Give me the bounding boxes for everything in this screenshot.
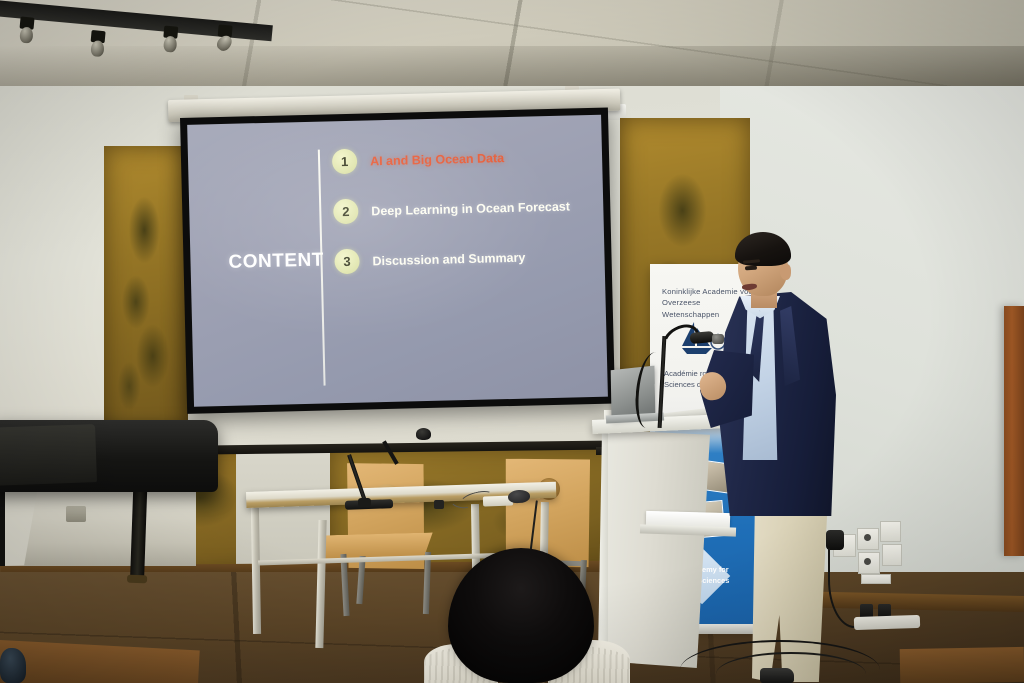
piano-pedal (66, 506, 86, 522)
spotlight-icon (163, 26, 178, 39)
power-plug[interactable] (826, 530, 844, 550)
tapestry-left (104, 146, 188, 446)
slide-surface: CONTENT 1 AI and Big Ocean Data 2 Deep L… (187, 115, 608, 407)
power-strip[interactable] (854, 615, 920, 630)
slide-item-2: 2 Deep Learning in Ocean Forecast (333, 194, 570, 225)
wall-outlet[interactable] (882, 544, 902, 566)
slide-item-label: Deep Learning in Ocean Forecast (371, 199, 570, 218)
podium-microphone-head-icon (712, 334, 724, 344)
slide-item-3: 3 Discussion and Summary (334, 245, 525, 275)
spotlight-icon (218, 24, 233, 37)
spotlight-icon (91, 30, 106, 43)
lectern-body (600, 430, 710, 668)
wooden-wall-panel (1004, 306, 1024, 556)
slide-item-label: Discussion and Summary (372, 250, 525, 268)
microphone-connector (434, 500, 444, 509)
outlet-socket-hole (864, 534, 871, 541)
microphone-head-icon (416, 428, 431, 440)
wall-outlet[interactable] (880, 521, 901, 542)
spotlight-icon (20, 16, 35, 29)
podium-microphone-body (690, 331, 715, 344)
slide-heading: CONTENT (228, 250, 324, 274)
speaker-eye (745, 266, 757, 271)
speaker-ear (780, 264, 791, 280)
slide-item-1: 1 AI and Big Ocean Data (332, 145, 505, 174)
piano-skirt (24, 488, 196, 566)
projection-screen: CONTENT 1 AI and Big Ocean Data 2 Deep L… (180, 108, 615, 414)
slide-number-badge: 2 (333, 199, 359, 225)
presentation-scene: CONTENT 1 AI and Big Ocean Data 2 Deep L… (0, 0, 1024, 683)
slide-item-label: AI and Big Ocean Data (370, 151, 504, 168)
microphone-joint (358, 498, 371, 507)
foreground-object (0, 648, 26, 683)
slide-number-badge: 3 (334, 249, 360, 275)
slide-number-badge: 1 (332, 149, 358, 175)
piano-lid-cover (0, 424, 97, 486)
stage-edge-right (900, 647, 1024, 683)
